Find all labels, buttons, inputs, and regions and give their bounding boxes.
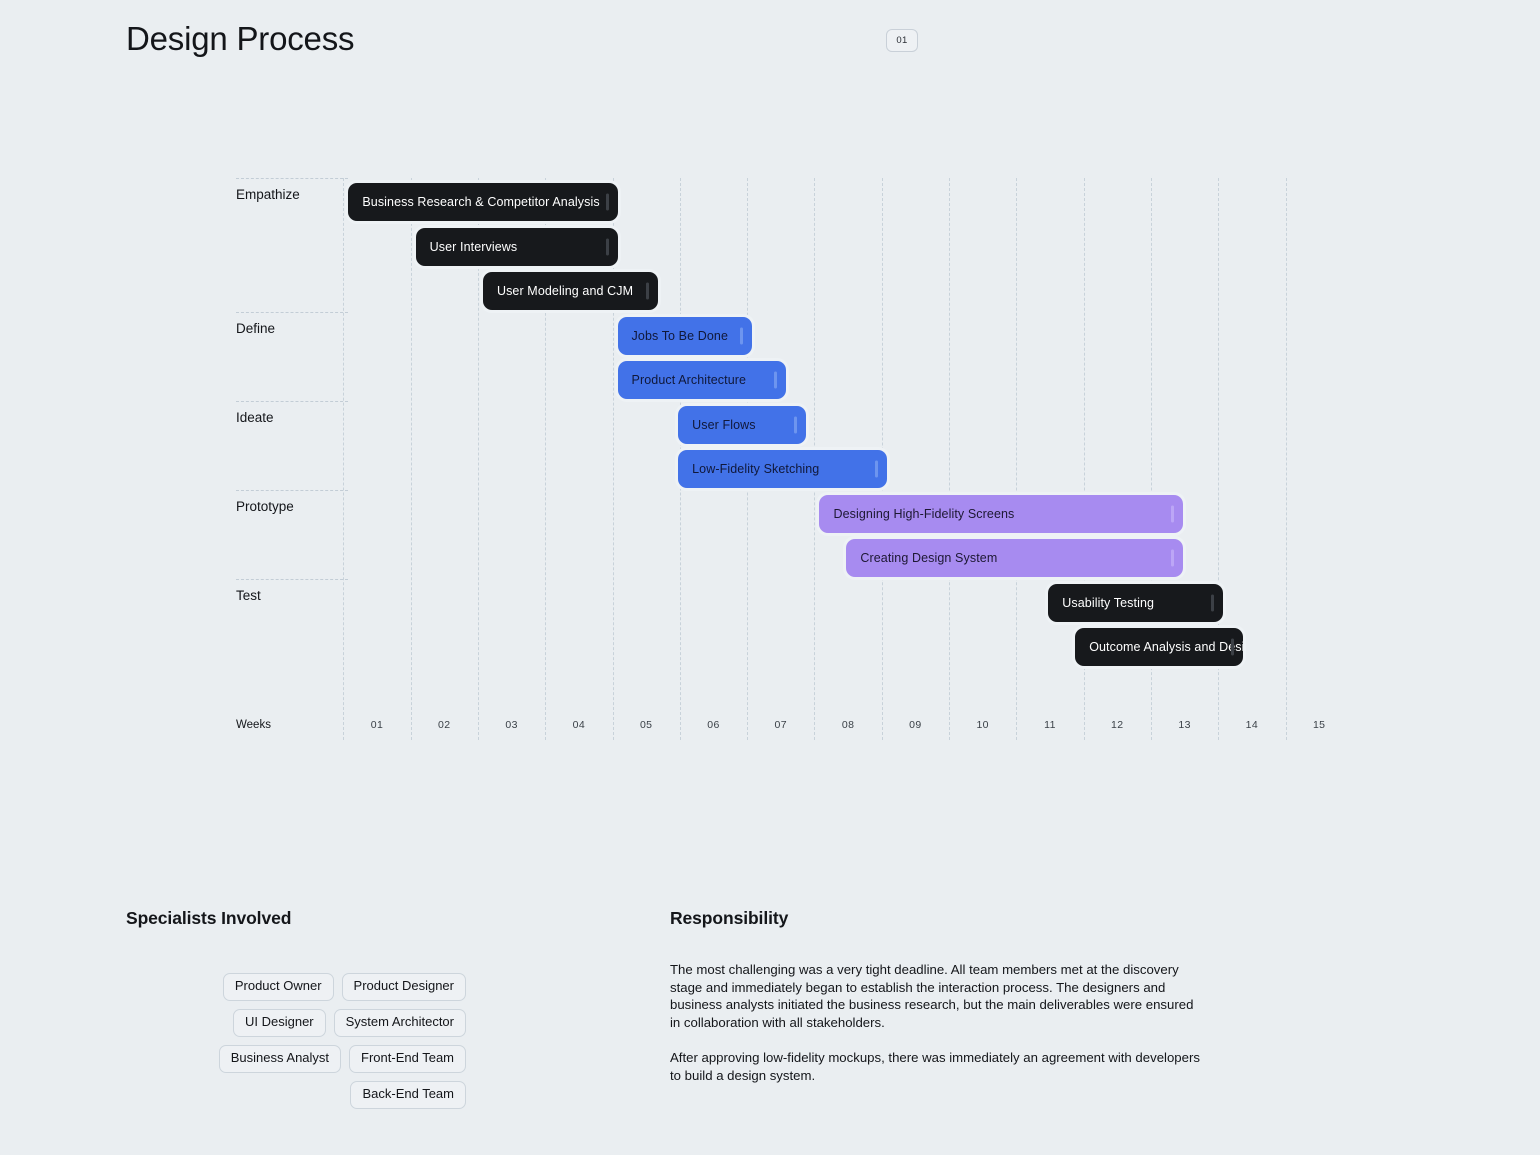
gantt-bar-label: Business Research & Competitor Analysis: [362, 195, 599, 209]
week-gridline: [343, 178, 344, 740]
specialists-section: Specialists Involved Product OwnerProduc…: [126, 908, 606, 1109]
specialist-chip[interactable]: Back-End Team: [350, 1081, 466, 1109]
week-tick-label: 10: [976, 719, 988, 731]
week-tick-label: 13: [1178, 719, 1190, 731]
gantt-axis-caption: Weeks: [236, 719, 271, 731]
resize-handle-icon[interactable]: [1171, 505, 1174, 522]
week-gridline: [411, 178, 412, 740]
gantt-bar[interactable]: Designing High-Fidelity Screens: [819, 495, 1182, 533]
resize-handle-icon[interactable]: [606, 194, 609, 211]
week-tick-label: 06: [707, 719, 719, 731]
resize-handle-icon[interactable]: [774, 372, 777, 389]
week-gridline: [1016, 178, 1017, 740]
slide-number-badge: 01: [886, 29, 918, 52]
specialist-chip[interactable]: Business Analyst: [219, 1045, 341, 1073]
gantt-bar-label: Designing High-Fidelity Screens: [833, 507, 1014, 521]
week-tick-label: 04: [573, 719, 585, 731]
gantt-bar-label: Creating Design System: [860, 551, 997, 565]
phase-separator-line: [236, 579, 348, 580]
specialist-chip[interactable]: Product Owner: [223, 973, 334, 1001]
week-gridline: [1286, 178, 1287, 740]
week-tick-label: 14: [1246, 719, 1258, 731]
resize-handle-icon[interactable]: [794, 416, 797, 433]
week-tick-label: 15: [1313, 719, 1325, 731]
gantt-bar[interactable]: User Interviews: [416, 228, 618, 266]
responsibility-paragraph: The most challenging was a very tight de…: [670, 961, 1200, 1031]
gantt-bar[interactable]: User Modeling and CJM: [483, 272, 658, 310]
page-header: Design Process 01: [0, 0, 1540, 80]
responsibility-body: The most challenging was a very tight de…: [670, 961, 1200, 1084]
resize-handle-icon[interactable]: [606, 238, 609, 255]
phase-label-ideate: Ideate: [236, 410, 274, 425]
gantt-bar[interactable]: Creating Design System: [846, 539, 1183, 577]
gantt-bar-label: User Modeling and CJM: [497, 284, 633, 298]
phase-label-define: Define: [236, 321, 275, 336]
week-gridline: [949, 178, 950, 740]
gantt-bar-label: Product Architecture: [632, 373, 747, 387]
responsibility-section: Responsibility The most challenging was …: [670, 908, 1200, 1084]
gantt-bar[interactable]: Low-Fidelity Sketching: [678, 450, 887, 488]
gantt-bar-label: User Interviews: [430, 240, 518, 254]
resize-handle-icon[interactable]: [646, 283, 649, 300]
phase-label-empathize: Empathize: [236, 187, 300, 202]
week-tick-label: 07: [775, 719, 787, 731]
gantt-bar[interactable]: Outcome Analysis and Design Update: [1075, 628, 1243, 666]
gantt-bar[interactable]: User Flows: [678, 406, 806, 444]
week-tick-label: 02: [438, 719, 450, 731]
phase-label-prototype: Prototype: [236, 499, 294, 514]
gantt-bar[interactable]: Usability Testing: [1048, 584, 1223, 622]
gantt-bar[interactable]: Jobs To Be Done: [618, 317, 753, 355]
week-tick-label: 09: [909, 719, 921, 731]
responsibility-paragraph: After approving low-fidelity mockups, th…: [670, 1049, 1200, 1084]
gantt-bar[interactable]: Business Research & Competitor Analysis: [348, 183, 617, 221]
week-tick-label: 05: [640, 719, 652, 731]
resize-handle-icon[interactable]: [740, 327, 743, 344]
specialists-title: Specialists Involved: [126, 908, 606, 929]
resize-handle-icon[interactable]: [1211, 594, 1214, 611]
specialist-chip[interactable]: Front-End Team: [349, 1045, 466, 1073]
phase-separator-line: [236, 401, 348, 402]
resize-handle-icon[interactable]: [1231, 639, 1234, 656]
specialist-chip[interactable]: System Architector: [334, 1009, 466, 1037]
gantt-bar-label: User Flows: [692, 418, 756, 432]
gantt-bar-label: Low-Fidelity Sketching: [692, 462, 819, 476]
phase-separator-line: [236, 312, 348, 313]
week-tick-label: 08: [842, 719, 854, 731]
page-title: Design Process: [126, 20, 354, 58]
week-tick-label: 12: [1111, 719, 1123, 731]
gantt-bar-label: Outcome Analysis and Design Update: [1089, 640, 1243, 654]
phase-label-test: Test: [236, 588, 261, 603]
phase-separator-line: [236, 490, 348, 491]
gantt-chart: EmpathizeDefineIdeatePrototypeTest Busin…: [236, 178, 1356, 740]
gantt-bar[interactable]: Product Architecture: [618, 361, 786, 399]
week-tick-label: 01: [371, 719, 383, 731]
specialist-chip[interactable]: Product Designer: [342, 973, 466, 1001]
resize-handle-icon[interactable]: [875, 461, 878, 478]
specialist-chip[interactable]: UI Designer: [233, 1009, 326, 1037]
responsibility-title: Responsibility: [670, 908, 1200, 929]
resize-handle-icon[interactable]: [1171, 550, 1174, 567]
phase-separator-line: [236, 178, 348, 179]
gantt-bar-label: Usability Testing: [1062, 596, 1154, 610]
week-tick-label: 11: [1044, 719, 1056, 731]
gantt-bar-label: Jobs To Be Done: [632, 329, 728, 343]
specialists-chip-list: Product OwnerProduct DesignerUI Designer…: [126, 973, 466, 1109]
week-tick-label: 03: [505, 719, 517, 731]
